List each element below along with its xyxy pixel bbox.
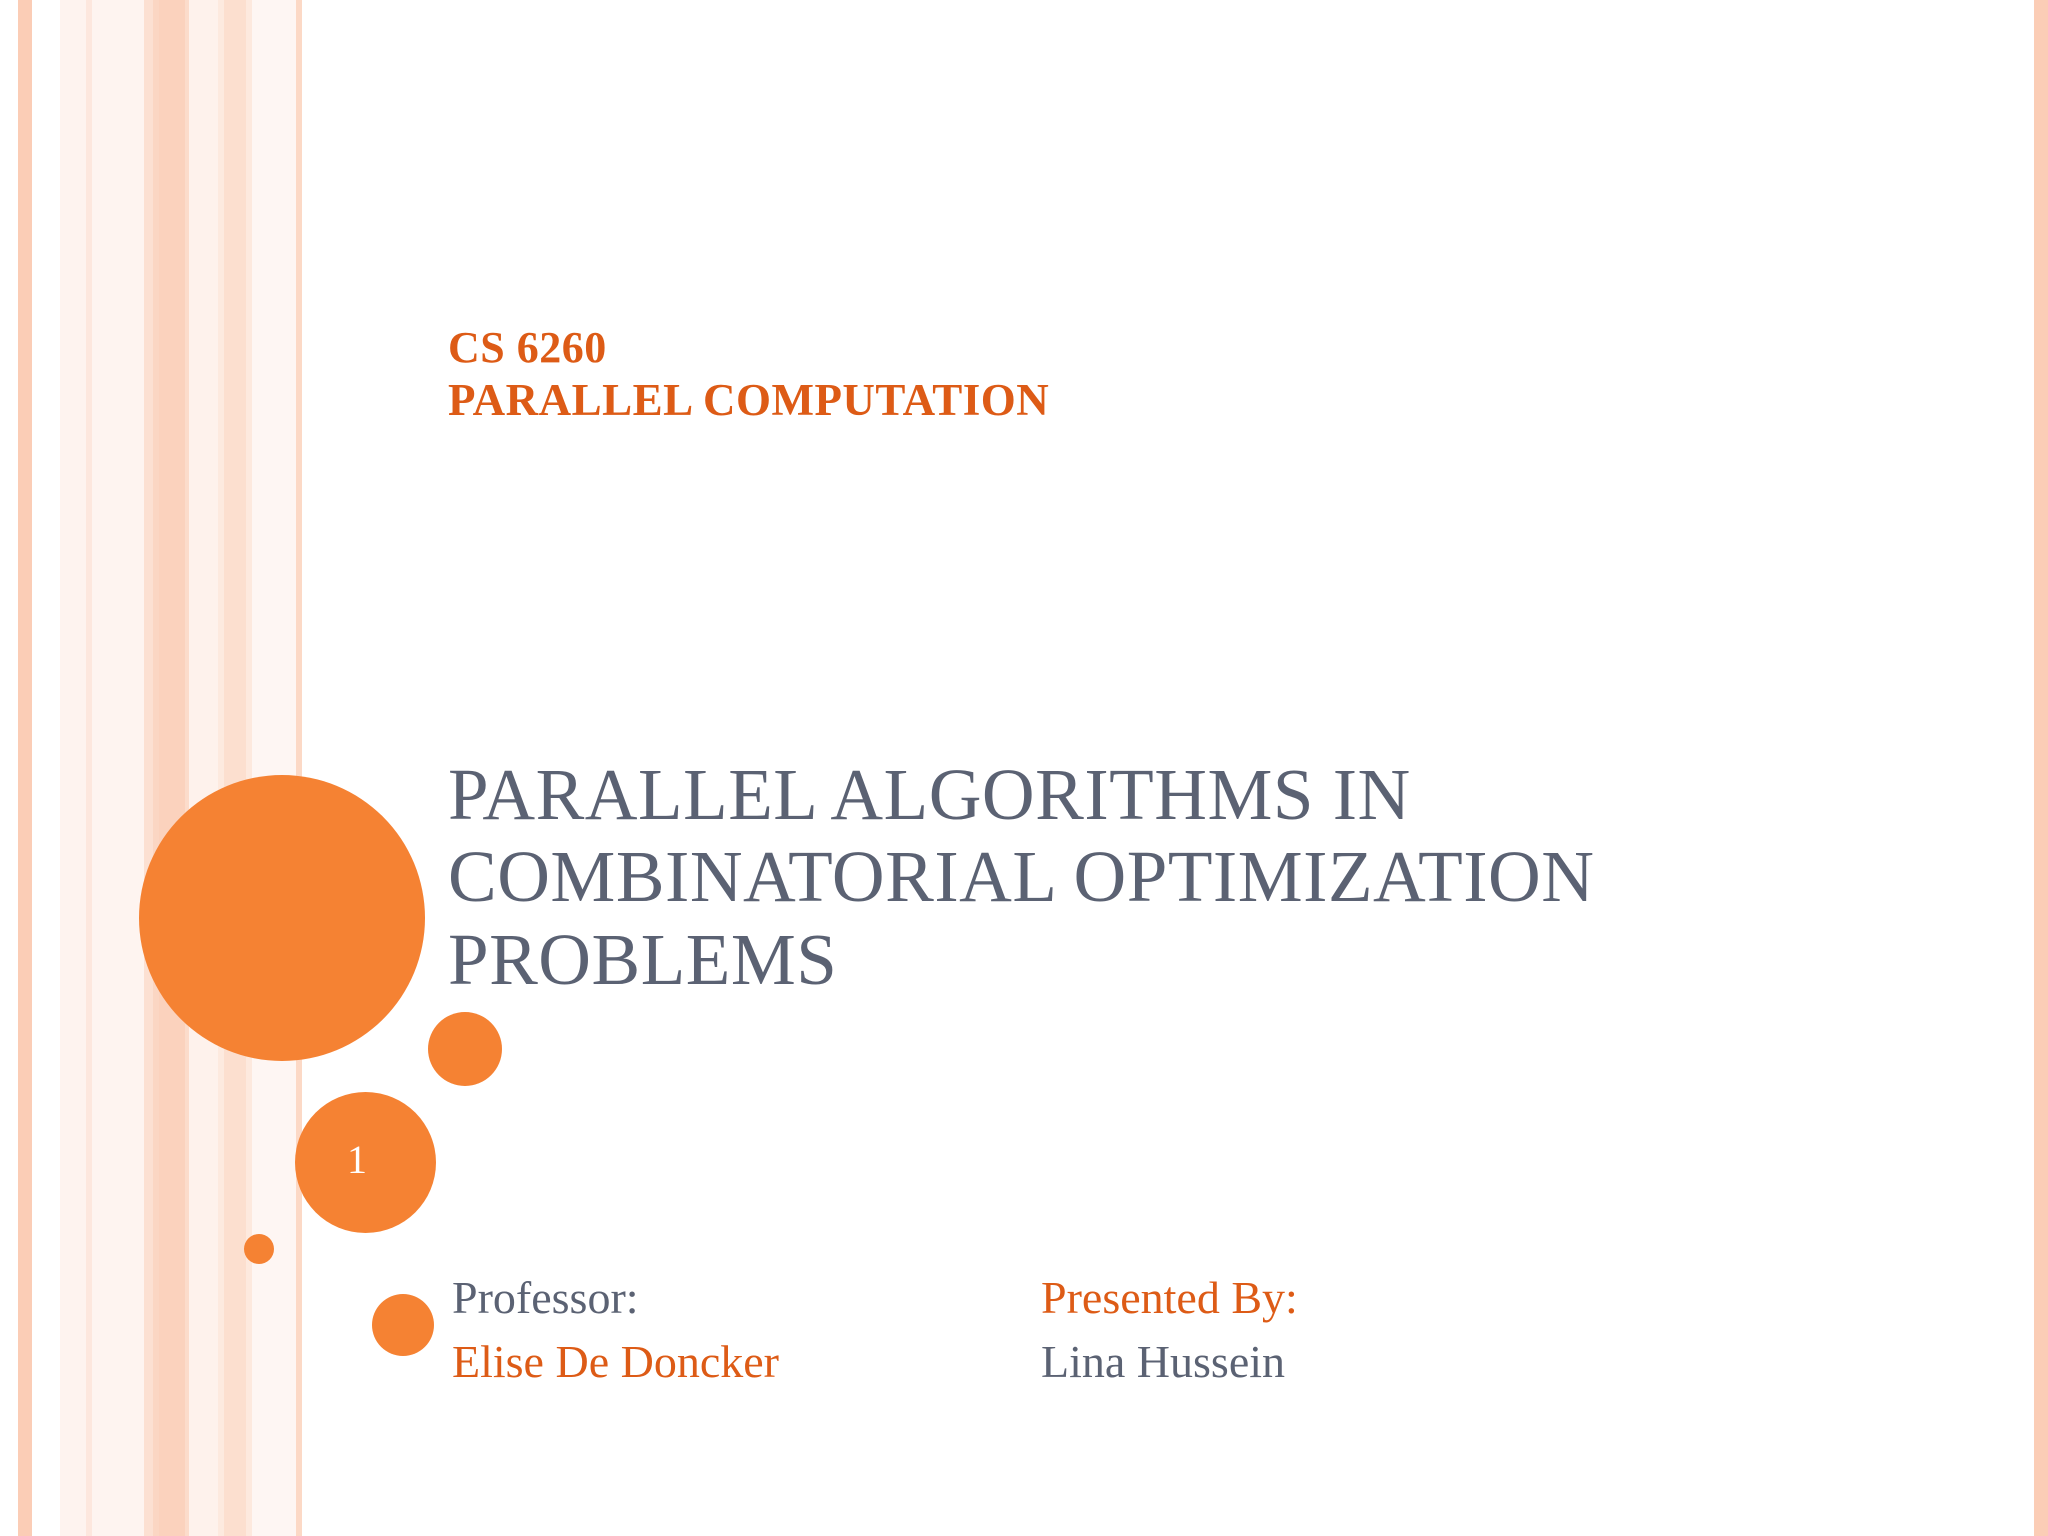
title-slide: 1 CS 6260 PARALLEL COMPUTATION Parallel … xyxy=(0,0,2048,1536)
credits-block: Professor: Elise De Doncker Presented By… xyxy=(452,1266,1852,1395)
course-header: CS 6260 PARALLEL COMPUTATION xyxy=(448,322,1748,427)
course-code: CS 6260 xyxy=(448,322,1748,374)
credit-presenter: Presented By: Lina Hussein xyxy=(1041,1266,1298,1395)
page-title: Parallel Algorithms in Combinatorial Opt… xyxy=(448,754,1888,1001)
credit-professor: Professor: Elise De Doncker xyxy=(452,1266,779,1395)
presenter-label: Presented By: xyxy=(1041,1266,1298,1330)
course-name: PARALLEL COMPUTATION xyxy=(448,374,1748,427)
professor-name: Elise De Doncker xyxy=(452,1330,779,1394)
presenter-name: Lina Hussein xyxy=(1041,1330,1298,1394)
professor-label: Professor: xyxy=(452,1266,779,1330)
